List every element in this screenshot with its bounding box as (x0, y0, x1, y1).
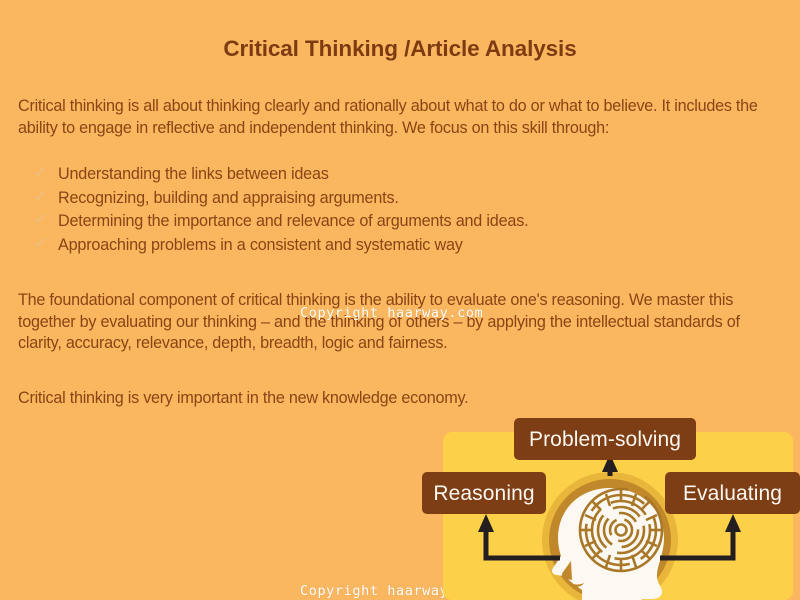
node-reasoning[interactable]: Reasoning (422, 472, 546, 514)
list-item: ✓ Determining the importance and relevan… (34, 210, 634, 233)
slide-canvas: Critical Thinking /Article Analysis Crit… (0, 0, 800, 600)
critical-thinking-diagram: Problem-solving Reasoning Evaluating (420, 410, 800, 600)
check-icon: ✓ (34, 235, 50, 253)
economy-paragraph: Critical thinking is very important in t… (18, 388, 718, 410)
check-icon: ✓ (34, 188, 50, 206)
list-item-label: Understanding the links between ideas (58, 165, 329, 183)
list-item-label: Recognizing, building and appraising arg… (58, 189, 399, 207)
watermark-middle: Copyright haarway.com (300, 305, 483, 321)
intro-paragraph: Critical thinking is all about thinking … (18, 96, 773, 139)
foundational-paragraph: The foundational component of critical t… (18, 290, 784, 355)
list-item: ✓ Understanding the links between ideas (34, 163, 634, 186)
node-evaluating[interactable]: Evaluating (665, 472, 800, 514)
check-icon: ✓ (34, 164, 50, 182)
skills-list: ✓ Understanding the links between ideas … (34, 163, 634, 257)
node-problem-solving[interactable]: Problem-solving (514, 418, 696, 460)
list-item-label: Approaching problems in a consistent and… (58, 236, 463, 254)
list-item: ✓ Approaching problems in a consistent a… (34, 234, 634, 257)
check-icon: ✓ (34, 211, 50, 229)
arrow-head-left (478, 514, 494, 532)
arrow-head-right (725, 514, 741, 532)
page-title: Critical Thinking /Article Analysis (0, 36, 800, 62)
list-item-label: Determining the importance and relevance… (58, 212, 528, 230)
list-item: ✓ Recognizing, building and appraising a… (34, 187, 634, 210)
